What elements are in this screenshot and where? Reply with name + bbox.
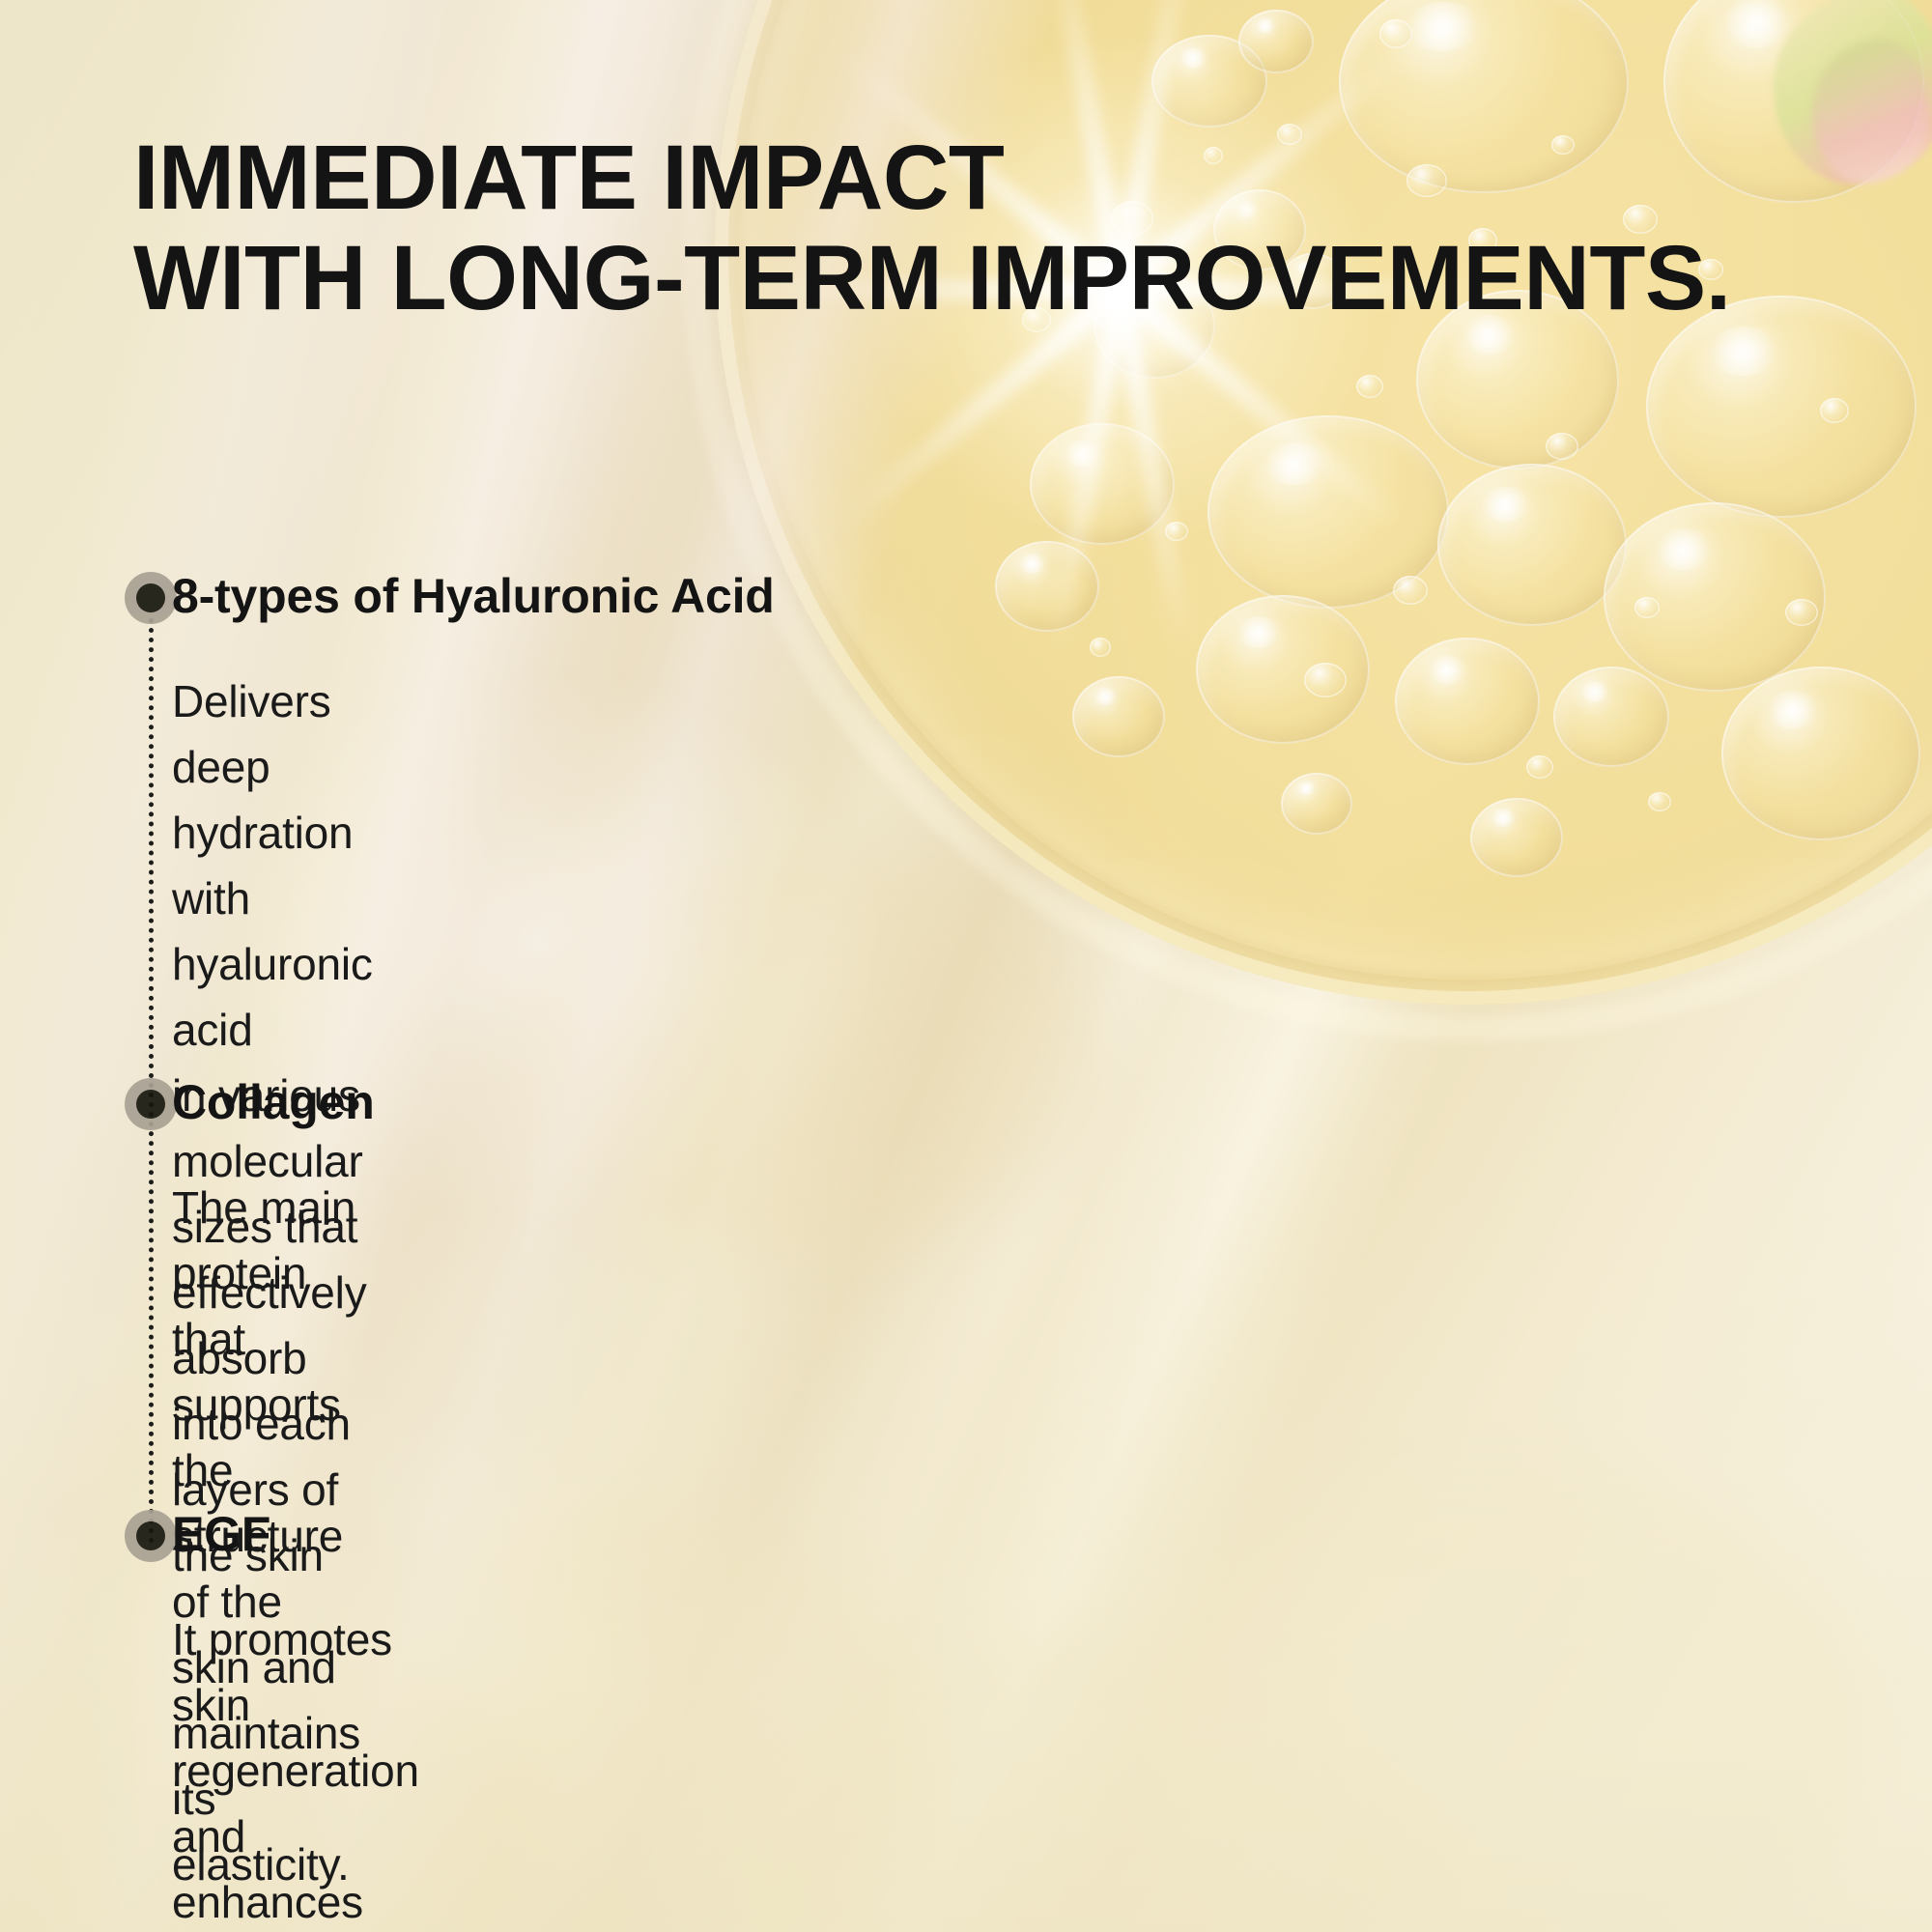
feature-title: EGF (172, 1510, 270, 1558)
content-area: IMMEDIATE IMPACT WITH LONG-TERM IMPROVEM… (0, 0, 1932, 1932)
promo-graphic-page: IMMEDIATE IMPACT WITH LONG-TERM IMPROVEM… (0, 0, 1932, 1932)
filled-circle-bullet-icon (125, 572, 177, 624)
filled-circle-bullet-icon (125, 1510, 177, 1562)
feature-title: Collagen (172, 1078, 375, 1126)
feature-title: 8-types of Hyaluronic Acid (172, 572, 775, 620)
feature-description: It promotes skin regeneration and enhanc… (172, 1606, 439, 1932)
page-title: IMMEDIATE IMPACT WITH LONG-TERM IMPROVEM… (133, 128, 1872, 328)
filled-circle-bullet-icon (125, 1078, 177, 1130)
